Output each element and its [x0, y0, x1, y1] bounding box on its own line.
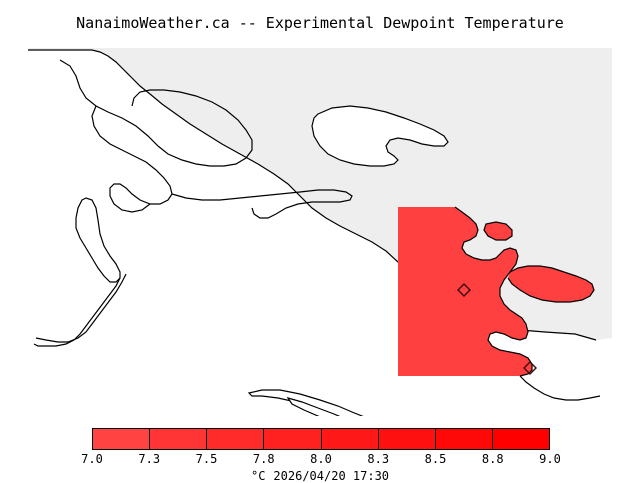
- colorbar-segment-6: [436, 429, 493, 449]
- colorbar-segment-3: [264, 429, 321, 449]
- island-left-middle: [76, 198, 120, 282]
- colorbar-tick-7.0: 7.0: [81, 452, 103, 466]
- colorbar-segment-0: [93, 429, 150, 449]
- colorbar-segment-2: [207, 429, 264, 449]
- colorbar-tick-8.8: 8.8: [482, 452, 504, 466]
- colorbar-tick-labels: 7.07.37.57.88.08.38.58.89.0: [92, 452, 550, 468]
- colorbar-units-label: °C: [251, 469, 265, 483]
- colorbar-tick-9.0: 9.0: [539, 452, 561, 466]
- colorbar-tick-7.3: 7.3: [138, 452, 160, 466]
- colorbar-tick-8.3: 8.3: [367, 452, 389, 466]
- page-title: NanaimoWeather.ca -- Experimental Dewpoi…: [76, 14, 564, 32]
- title-bar: NanaimoWeather.ca -- Experimental Dewpoi…: [0, 0, 640, 46]
- map-plot-area[interactable]: [0, 46, 640, 416]
- colorbar-tick-8.0: 8.0: [310, 452, 332, 466]
- colorbar-timestamp: 2026/04/20 17:30: [273, 469, 389, 483]
- coastline-peninsula-left: [92, 106, 172, 212]
- land-mass-north: [28, 48, 612, 340]
- colorbar-segment-4: [322, 429, 379, 449]
- colorbar-panel: 7.07.37.57.88.08.38.58.89.0 °C2026/04/20…: [0, 420, 640, 480]
- coastline-southeast: [520, 376, 600, 400]
- colorbar-segment-7: [493, 429, 549, 449]
- colorbar-gradient[interactable]: [92, 428, 550, 450]
- colorbar-tick-8.5: 8.5: [425, 452, 447, 466]
- map-canvas[interactable]: [0, 46, 640, 416]
- colorbar-caption: °C2026/04/20 17:30: [0, 469, 640, 483]
- coastline-west-shore: [34, 278, 120, 346]
- colorbar-tick-7.8: 7.8: [253, 452, 275, 466]
- colorbar-segment-1: [150, 429, 207, 449]
- colorbar-tick-7.5: 7.5: [196, 452, 218, 466]
- colorbar-segment-5: [379, 429, 436, 449]
